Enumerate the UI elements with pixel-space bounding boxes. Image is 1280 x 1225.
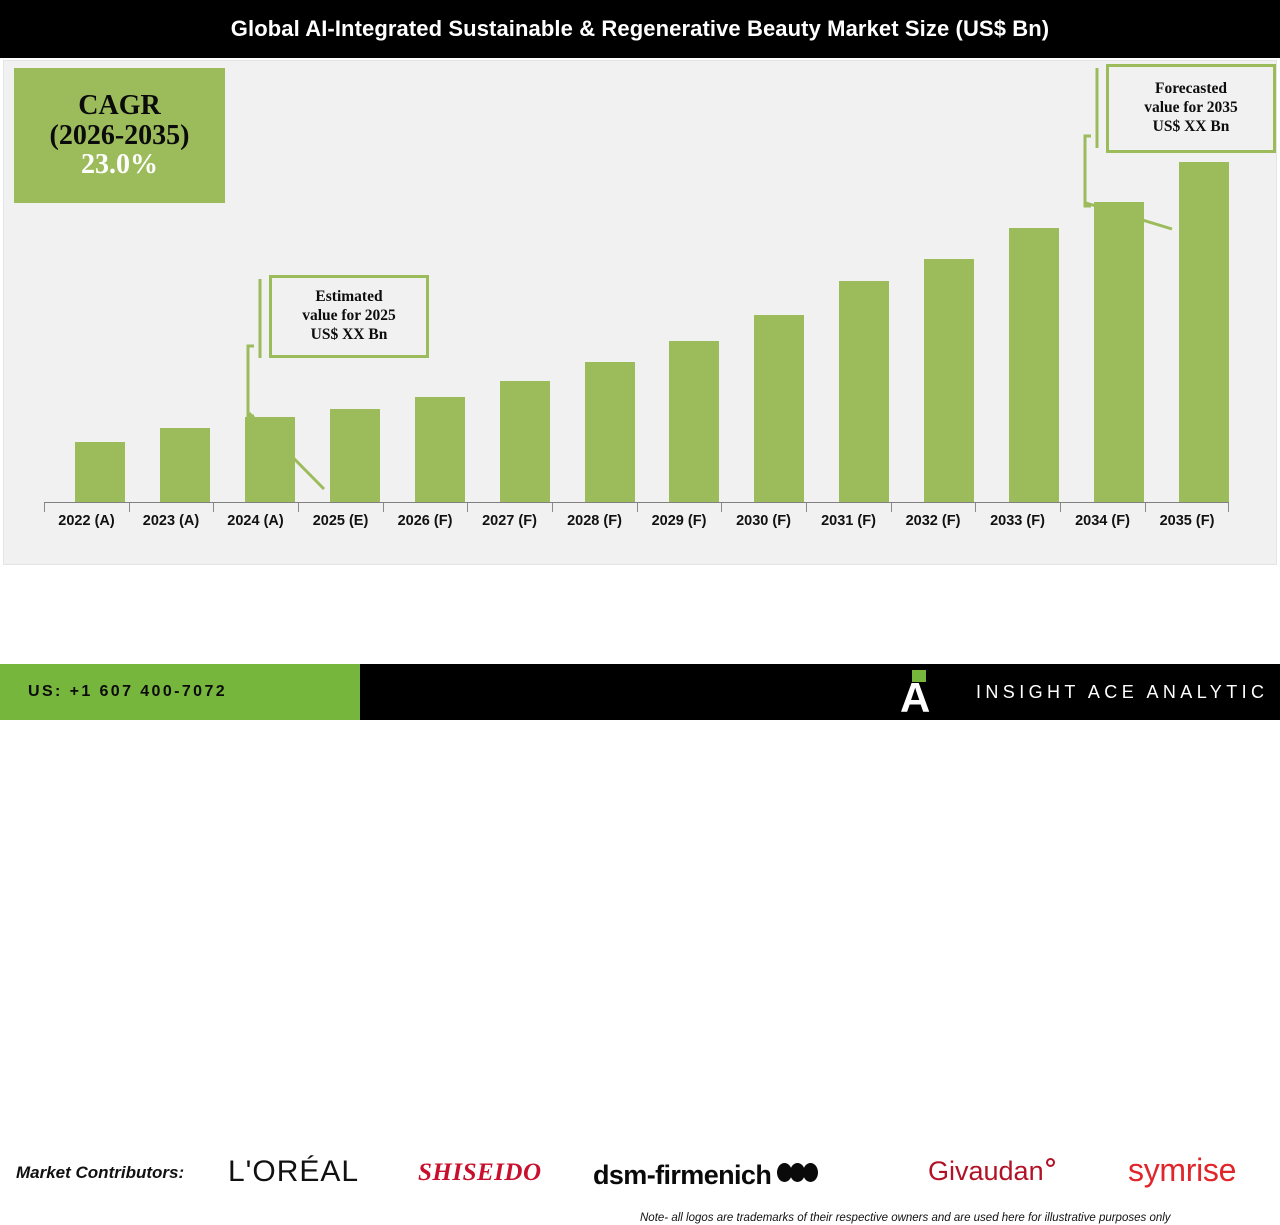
x-label-10: 2032 (F) [891,513,975,529]
x-axis-labels: 2022 (A) 2023 (A) 2024 (A) 2025 (E) 2026… [44,513,1229,537]
footer-phone-number[interactable]: US: +1 607 400-7072 [28,683,227,701]
brand-name: INSIGHT ACE ANALYTIC [976,682,1268,703]
bar-2026 [415,397,465,502]
market-contributors-label: Market Contributors: [16,1163,184,1183]
callout-forecasted-2035: Forecasted value for 2035 US$ XX Bn [1106,64,1276,153]
trademark-note: Note- all logos are trademarks of their … [640,1211,1272,1225]
x-label-2: 2024 (A) [213,513,298,529]
footer-phone-block: US: +1 607 400-7072 [0,664,360,720]
x-label-7: 2029 (F) [637,513,721,529]
callout-estimated-line1: Estimated [315,288,382,307]
page-title: Global AI-Integrated Sustainable & Regen… [231,16,1049,42]
bar-2029 [669,341,719,502]
x-label-9: 2031 (F) [806,513,891,529]
x-label-6: 2028 (F) [552,513,637,529]
x-label-5: 2027 (F) [467,513,552,529]
callout-forecasted-line1: Forecasted [1155,80,1227,99]
bar-2033 [1009,228,1059,502]
dsm-firmenich-wordmark: dsm-firmenich [593,1160,771,1190]
callout-forecasted-line3: US$ XX Bn [1153,118,1230,137]
bar-2032 [924,259,974,502]
x-label-13: 2035 (F) [1145,513,1229,529]
x-label-1: 2023 (A) [129,513,213,529]
x-label-0: 2022 (A) [44,513,129,529]
x-label-12: 2034 (F) [1060,513,1145,529]
givaudan-wordmark: Givaudan [928,1156,1044,1186]
x-label-11: 2033 (F) [975,513,1060,529]
market-contributors-section: Market Contributors: L'ORÉAL SHISEIDO ds… [0,567,1280,665]
x-label-4: 2026 (F) [383,513,467,529]
bar-2025 [330,409,380,502]
title-bar: Global AI-Integrated Sustainable & Regen… [0,0,1280,58]
insight-ace-logo-icon: A [900,670,942,716]
x-label-8: 2030 (F) [721,513,806,529]
brand-lockup: A INSIGHT ACE ANALYTIC [900,664,1268,720]
dsm-firmenich-logo: dsm-firmenich [593,1158,818,1191]
givaudan-circle-icon [1046,1158,1055,1167]
bar-2027 [500,381,550,502]
chart-panel: CAGR (2026-2035) 23.0% [3,60,1277,565]
callout-forecasted-line2: value for 2035 [1144,99,1238,118]
givaudan-logo: Givaudan [928,1156,1055,1187]
bar-2024 [245,417,295,502]
bar-2022 [75,442,125,502]
x-label-3: 2025 (E) [298,513,383,529]
x-axis-ticks [44,503,1229,512]
bar-2034 [1094,202,1144,502]
brand-letter: A [900,681,942,716]
bar-series [44,71,1229,502]
callout-estimated-2025: Estimated value for 2025 US$ XX Bn [269,275,429,358]
bar-2030 [754,315,804,502]
loreal-logo: L'ORÉAL [228,1155,359,1189]
bar-2031 [839,281,889,502]
bar-2023 [160,428,210,502]
symrise-logo: symrise [1128,1152,1236,1189]
bar-2035 [1179,162,1229,502]
footer-bar: US: +1 607 400-7072 A INSIGHT ACE ANALYT… [0,664,1280,720]
shiseido-logo: SHISEIDO [418,1159,542,1187]
bar-2028 [585,362,635,502]
dsm-dots-icon [779,1158,818,1189]
callout-estimated-line3: US$ XX Bn [311,326,388,345]
callout-estimated-line2: value for 2025 [302,307,396,326]
